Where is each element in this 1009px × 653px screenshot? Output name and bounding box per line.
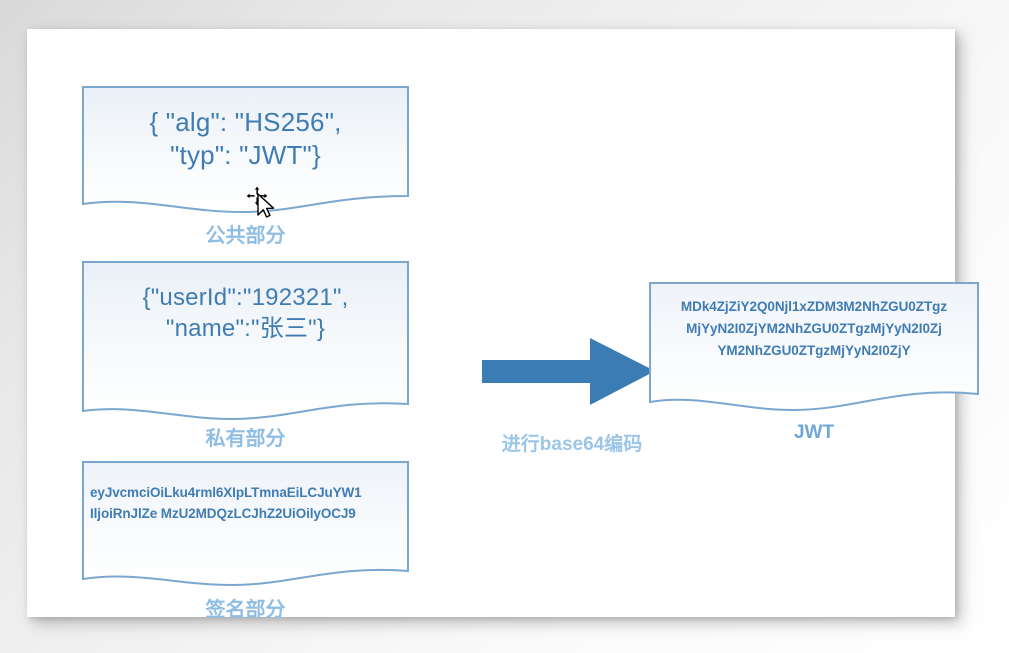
slide-card: { "alg": "HS256", "typ": "JWT"} 公共部分 {"u… (27, 29, 955, 617)
payload-shape[interactable]: {"userId":"192321", "name":"张三"} (82, 261, 409, 423)
base64-arrow[interactable] (482, 334, 657, 409)
jwt-shape-caption: JWT (649, 422, 979, 444)
base64-arrow-caption: 进行base64编码 (467, 429, 677, 456)
signature-shape[interactable]: eyJvcmciOiLku4rml6XIpLTmnaEiLCJuYW1 Iljo… (82, 461, 409, 593)
payload-shape-caption: 私有部分 (82, 422, 409, 451)
slide-backdrop: { "alg": "HS256", "typ": "JWT"} 公共部分 {"u… (0, 0, 1009, 653)
jwt-shape[interactable]: MDk4ZjZiY2Q0Njl1xZDM3M2NhZGU0ZTgz MjYyN2… (649, 282, 979, 415)
header-shape[interactable]: { "alg": "HS256", "typ": "JWT"} (82, 86, 409, 218)
header-shape-caption: 公共部分 (82, 219, 409, 248)
signature-shape-caption: 签名部分 (82, 593, 409, 622)
